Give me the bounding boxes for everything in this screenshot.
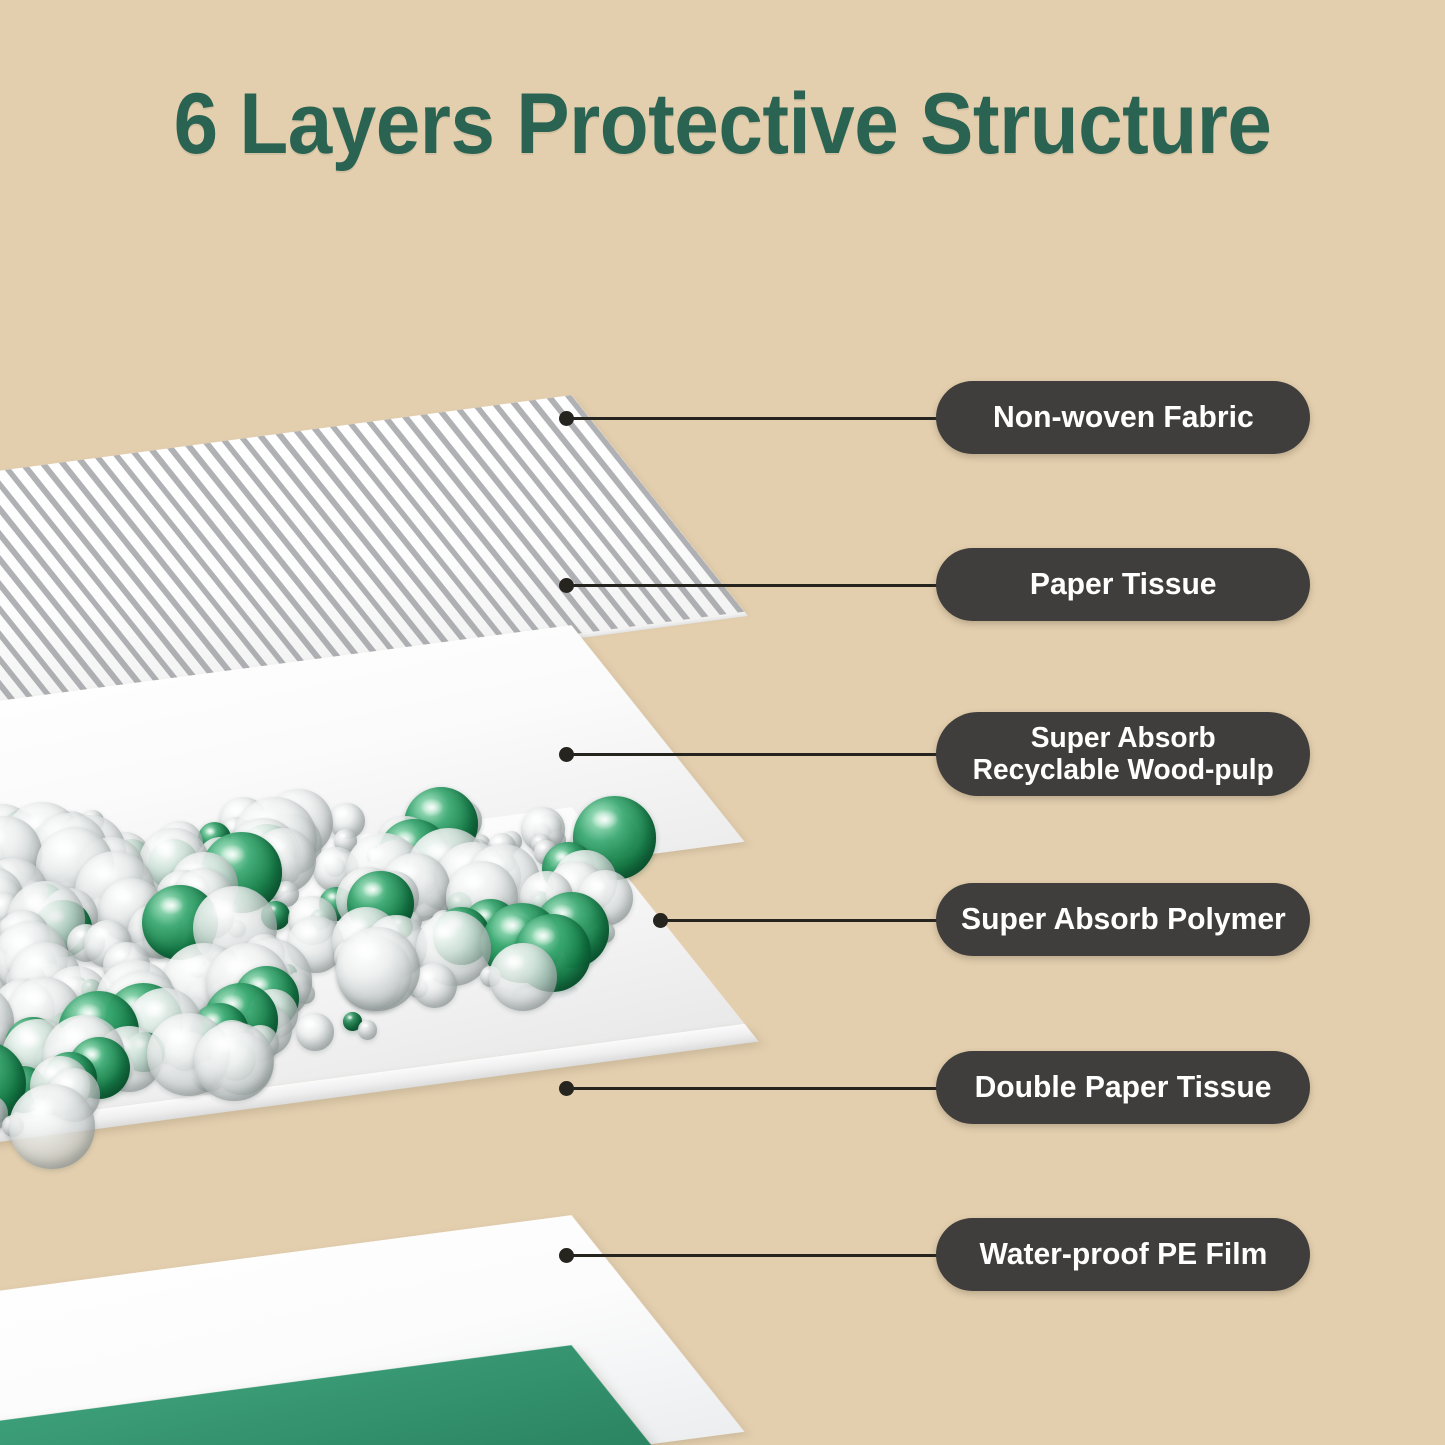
leader-line-paper-tissue [566, 584, 938, 587]
label-text: Water-proof PE Film [962, 1237, 1285, 1272]
droplet-dimple [0, 988, 70, 1018]
leader-line-wood-pulp [566, 753, 938, 756]
label-water-proof-pe-film[interactable]: Water-proof PE Film [936, 1218, 1310, 1291]
label-text: Non-woven Fabric [975, 400, 1271, 435]
droplet-dimple [221, 1015, 275, 1034]
label-super-absorb-recyclable-wood-pulp[interactable]: Super Absorb Recyclable Wood-pulp [936, 712, 1310, 796]
label-double-paper-tissue[interactable]: Double Paper Tissue [936, 1051, 1310, 1124]
page-title: 6 Layers Protective Structure [51, 82, 1395, 166]
leader-line-double-paper-tissue [566, 1087, 938, 1090]
droplet-dimple [369, 911, 482, 950]
leader-line-super-absorb-polymer [660, 919, 938, 922]
infographic-canvas: 6 Layers Protective Structure [0, 0, 1445, 1445]
label-non-woven-fabric[interactable]: Non-woven Fabric [936, 381, 1310, 454]
droplet-dimple [47, 925, 188, 973]
leader-line-pe-film [566, 1254, 938, 1257]
leader-line-non-woven-fabric [566, 417, 938, 420]
label-paper-tissue[interactable]: Paper Tissue [936, 548, 1310, 621]
layer-stack-diagram [0, 300, 780, 1445]
label-text: Super Absorb Recyclable Wood-pulp [955, 722, 1291, 787]
droplet-dimple [505, 978, 585, 1006]
label-super-absorb-polymer[interactable]: Super Absorb Polymer [936, 883, 1310, 956]
label-text: Double Paper Tissue [957, 1070, 1289, 1105]
label-text: Super Absorb Polymer [943, 902, 1303, 937]
droplet-dimple [192, 890, 265, 916]
label-text: Paper Tissue [1012, 567, 1234, 602]
